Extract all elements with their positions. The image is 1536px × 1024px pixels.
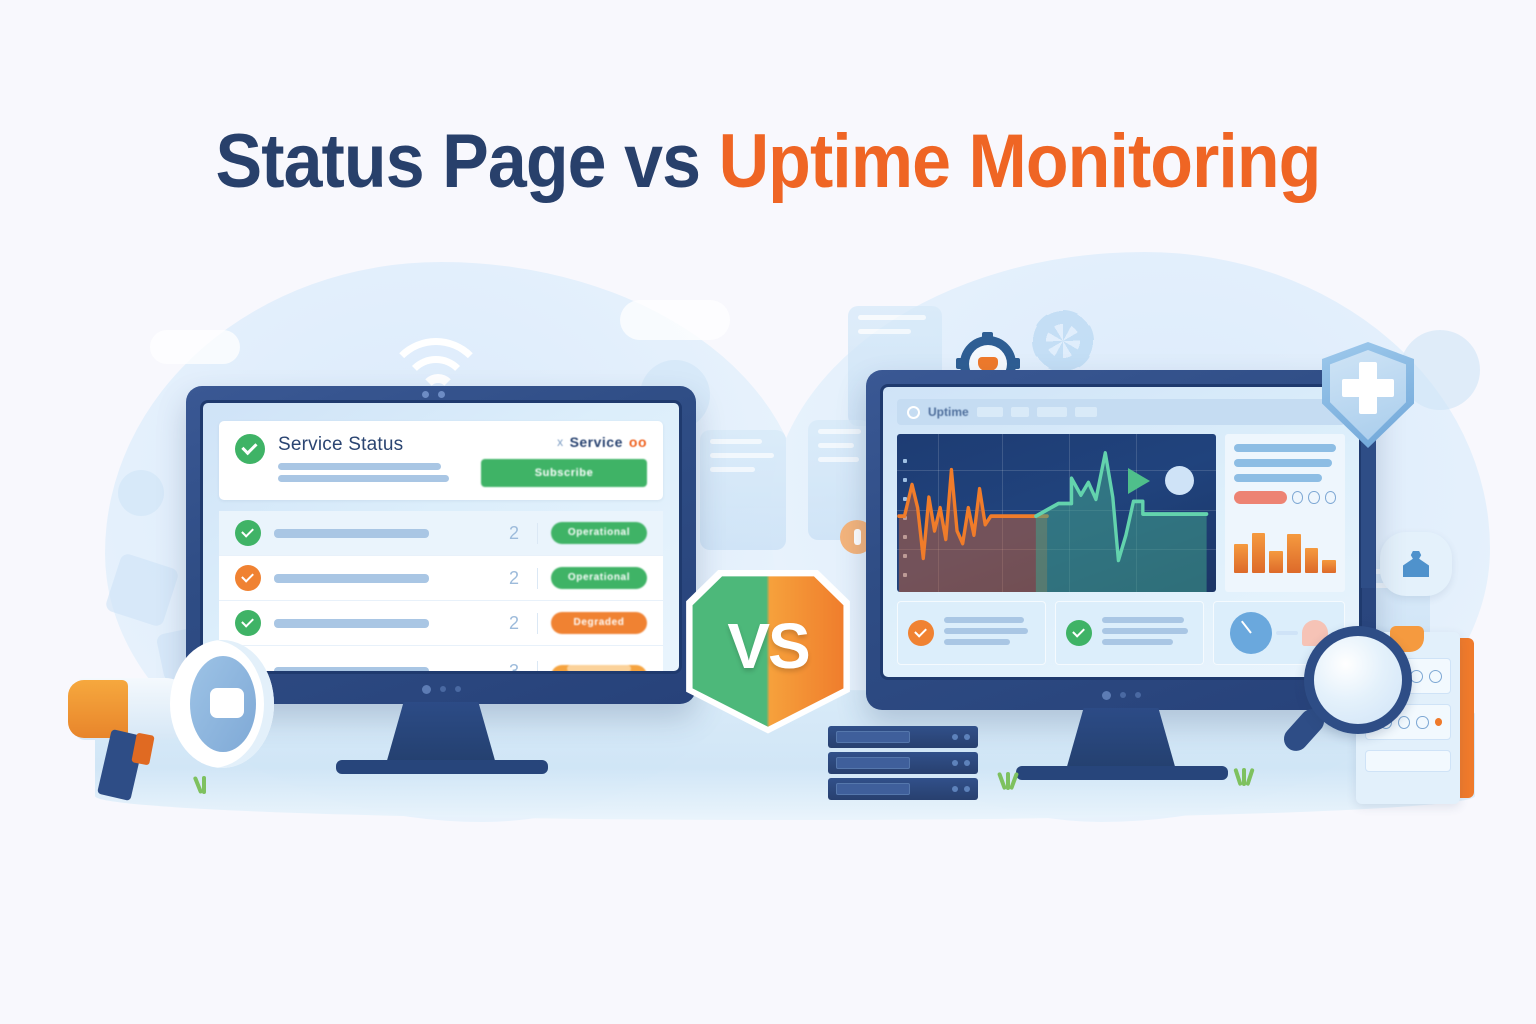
brand-accent: oo (629, 434, 647, 450)
chin-dot (1120, 692, 1126, 698)
status-badge[interactable]: Operational (551, 522, 647, 544)
row-check-icon (235, 610, 261, 636)
cloud-deco-1 (150, 330, 240, 364)
service-status-header-card[interactable]: Service Status x Service oo Subscribe (219, 421, 663, 500)
subscribe-button[interactable]: Subscribe (481, 459, 647, 487)
side-metric-bar (1234, 474, 1322, 482)
header-brand-block: x Service oo Subscribe (481, 434, 647, 487)
header-placeholder-line-1 (278, 463, 441, 470)
megaphone-icon (62, 636, 312, 816)
toolbar-status-dot (907, 406, 920, 419)
power-led (1102, 691, 1111, 700)
bezel-dot-1 (422, 391, 429, 398)
row-status-wrap: Degraded (551, 612, 647, 634)
table-row[interactable]: 2 Operational (219, 511, 663, 556)
vs-badge: VS (686, 570, 850, 730)
row-index: 3 (497, 661, 538, 672)
card-check-icon (908, 620, 934, 646)
chin-dot (440, 686, 446, 692)
title-navy-part: Status Page vs (216, 119, 719, 204)
uptime-line-chart[interactable] (897, 434, 1216, 592)
ring-icon (1325, 491, 1336, 504)
row-label-placeholder (274, 619, 484, 628)
brand-logo: x Service oo (481, 434, 647, 450)
panel-deco-left (700, 430, 786, 550)
card-lines (944, 617, 1035, 650)
toolbar-label: Uptime (928, 405, 969, 419)
circle-deco-1 (118, 470, 164, 516)
alert-bar (1234, 491, 1287, 504)
mini-bar-chart (1234, 517, 1336, 573)
status-badge[interactable]: Operational (551, 567, 647, 589)
status-page-screen[interactable]: Service Status x Service oo Subscribe (203, 403, 679, 671)
brand-name: Service (570, 434, 623, 450)
ring-icon (1292, 491, 1303, 504)
status-badge[interactable] (551, 665, 647, 671)
card-check-icon (1066, 620, 1092, 646)
alert-row (1234, 491, 1336, 504)
chin-dot (455, 686, 461, 692)
vs-label: VS (686, 570, 850, 730)
gauge-icon (1230, 612, 1272, 654)
row-index: 2 (497, 568, 538, 589)
left-monitor-neck (386, 702, 496, 764)
illustration-canvas: Status Page vs Uptime Monitoring (0, 0, 1536, 1024)
table-row[interactable]: 2 Operational (219, 556, 663, 601)
row-index: 2 (497, 523, 538, 544)
chart-series-svg (897, 434, 1216, 592)
status-card-ok[interactable] (1055, 601, 1204, 665)
chart-marker-dot (1165, 466, 1194, 495)
right-monitor-base (1016, 766, 1228, 780)
status-card-warning[interactable] (897, 601, 1046, 665)
power-led (422, 685, 431, 694)
row-label-placeholder (274, 529, 484, 538)
user-badge-icon (1380, 532, 1452, 596)
gear-icon (1032, 310, 1094, 372)
row-index: 2 (497, 613, 538, 634)
status-badge[interactable]: Degraded (551, 612, 647, 634)
dashboard-side-panel (1225, 434, 1345, 592)
magnifying-glass-icon (1288, 622, 1416, 754)
dashboard-toolbar[interactable]: Uptime (897, 399, 1345, 425)
header-check-icon (235, 434, 265, 464)
row-label-placeholder (274, 574, 484, 583)
left-monitor-base (336, 760, 548, 774)
brand-x-mark: x (557, 435, 564, 449)
row-status-wrap: Operational (551, 567, 647, 589)
row-check-icon (235, 565, 261, 591)
shield-cross-icon (1322, 342, 1414, 448)
chin-dot (1135, 692, 1141, 698)
side-metric-bar (1234, 459, 1332, 467)
monitor-inner-bezel: Service Status x Service oo Subscribe (200, 400, 682, 674)
play-triangle-icon (1128, 468, 1150, 494)
right-monitor-neck (1066, 708, 1176, 770)
ring-icon (1308, 491, 1319, 504)
row-status-wrap: Operational (551, 522, 647, 544)
server-rack-icon (828, 726, 978, 804)
header-placeholder-line-2 (278, 475, 449, 482)
dashboard-main (897, 434, 1345, 592)
cloud-deco-2 (620, 300, 730, 340)
bezel-dot-2 (438, 391, 445, 398)
dashboard-cards (897, 601, 1345, 665)
header-text-block: Service Status (278, 434, 468, 487)
service-status-title: Service Status (278, 434, 468, 456)
side-metric-bar (1234, 444, 1336, 452)
row-status-wrap (551, 655, 647, 671)
title-orange-part: Uptime Monitoring (719, 119, 1321, 204)
row-check-icon (235, 520, 261, 546)
card-lines (1102, 617, 1193, 650)
page-title: Status Page vs Uptime Monitoring (61, 118, 1474, 205)
